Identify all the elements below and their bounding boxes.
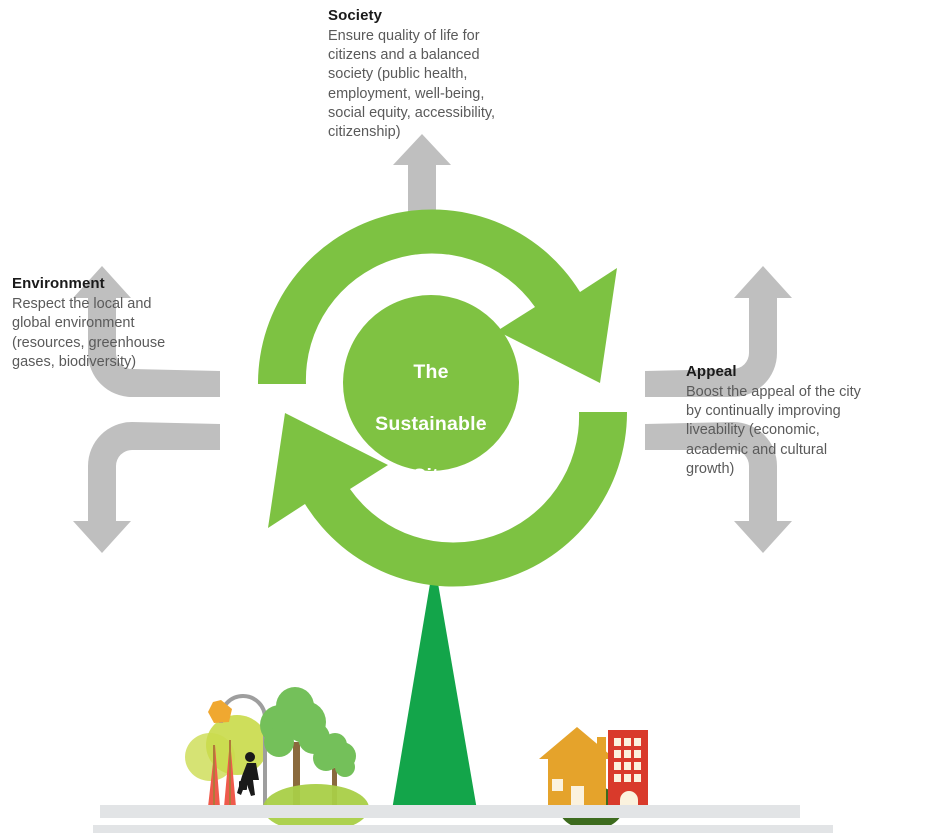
pillar-appeal-body: Boost the appeal of the city by continua… bbox=[686, 383, 886, 479]
pillar-appeal: Appeal Boost the appeal of the city by c… bbox=[686, 362, 886, 479]
pillar-society-body: Ensure quality of life for citizens and … bbox=[328, 27, 518, 142]
pillar-environment-body: Respect the local and global environment… bbox=[12, 295, 212, 372]
pillar-environment: Environment Respect the local and global… bbox=[12, 274, 212, 372]
pillar-environment-title: Environment bbox=[12, 274, 212, 293]
center-core-circle bbox=[343, 295, 519, 471]
pillar-society-title: Society bbox=[328, 6, 518, 25]
sustainable-city-diagram: The Sustainable City Society Ensure qual… bbox=[0, 0, 929, 833]
pillar-appeal-title: Appeal bbox=[686, 362, 886, 381]
pillar-society: Society Ensure quality of life for citiz… bbox=[328, 6, 518, 142]
